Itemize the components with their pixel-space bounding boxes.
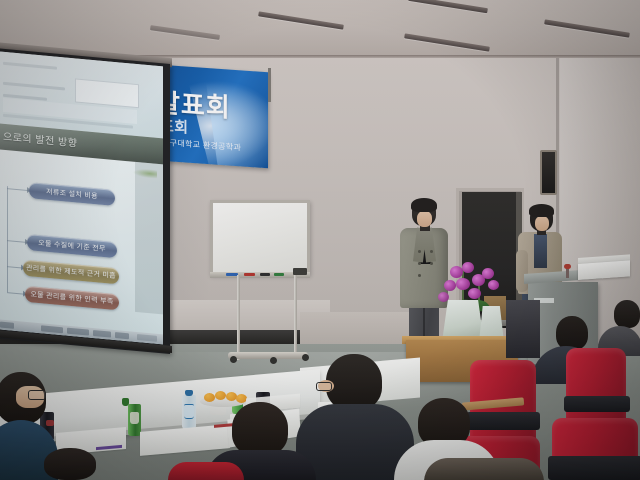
fur-collar-coat: [424, 458, 544, 480]
microphone-icon: [564, 264, 571, 269]
orchid-bloom: [468, 288, 481, 299]
screen-glare: [0, 51, 163, 344]
caster-wheel-icon: [270, 357, 277, 364]
caster-wheel-icon: [302, 354, 309, 361]
audience-standing-torso: [506, 300, 540, 358]
marker-icon[interactable]: [244, 273, 255, 276]
person-standing-hair: [411, 198, 437, 212]
ceiling-light-icon: [150, 25, 220, 40]
microphone-stand-icon: [566, 268, 569, 278]
orchid-bloom: [482, 268, 494, 279]
projection-screen[interactable]: 으로의 발전 방향 저류조 설치 비용 오물 수질에 기준 전무 관리를 위한 …: [0, 48, 170, 354]
eyeglasses-icon: [316, 382, 332, 391]
orchid-bloom: [456, 278, 470, 290]
whiteboard-leg: [294, 275, 297, 353]
ceiling-light-icon: [408, 0, 488, 13]
caster-wheel-icon: [230, 356, 237, 363]
seat-frame: [466, 412, 540, 430]
orange-fruit: [204, 393, 215, 402]
coat-button-icon: [430, 262, 433, 265]
bottle-cap: [122, 398, 129, 406]
bottle-cap: [185, 390, 193, 396]
orchid-bloom: [438, 292, 449, 302]
lecture-hall-photo: 발표회 표회 대구대학교 환경공학과 으로의 발전 방향: [0, 0, 640, 480]
marker-icon[interactable]: [260, 273, 270, 276]
coat-button-icon: [418, 262, 421, 265]
orchid-bloom: [488, 280, 499, 290]
projected-slide: 으로의 발전 방향 저류조 설치 비용 오물 수질에 기준 전무 관리를 위한 …: [0, 51, 163, 344]
water-bottle-label: [184, 404, 194, 419]
ceiling-light-icon: [258, 11, 344, 29]
can-label: [46, 420, 54, 426]
audience-shoulders: [168, 462, 244, 480]
ceiling-light-icon: [404, 33, 490, 51]
presenter-arm: [516, 250, 528, 292]
seat-frame: [564, 396, 630, 412]
presenter-hair: [529, 204, 554, 217]
audience-head: [556, 316, 588, 350]
orchid-bloom: [444, 280, 456, 291]
coat-button-icon: [418, 250, 421, 253]
audience-head: [232, 402, 288, 456]
marker-icon[interactable]: [274, 273, 284, 276]
whiteboard-base: [228, 352, 308, 359]
coat-button-icon: [418, 274, 421, 277]
presenter-face: [535, 216, 549, 231]
coat-button-icon: [430, 250, 433, 253]
whiteboard[interactable]: [210, 200, 310, 275]
bottle-label: [130, 412, 139, 424]
ceiling-light-icon: [544, 19, 630, 37]
banner-support-rod: [268, 68, 271, 102]
presenter-inner-shirt: [534, 234, 547, 268]
orange-fruit: [215, 391, 226, 400]
eyeglasses-icon: [28, 390, 46, 400]
audience-head: [614, 300, 640, 328]
person-standing-face: [417, 211, 432, 227]
audience-head: [326, 354, 382, 410]
seat-frame: [548, 456, 640, 480]
whiteboard-leg: [237, 275, 240, 360]
whiteboard-eraser-icon[interactable]: [293, 268, 307, 275]
orchid-bloom: [462, 262, 474, 273]
wall-speaker-icon: [540, 150, 557, 195]
audience-head: [44, 448, 96, 480]
